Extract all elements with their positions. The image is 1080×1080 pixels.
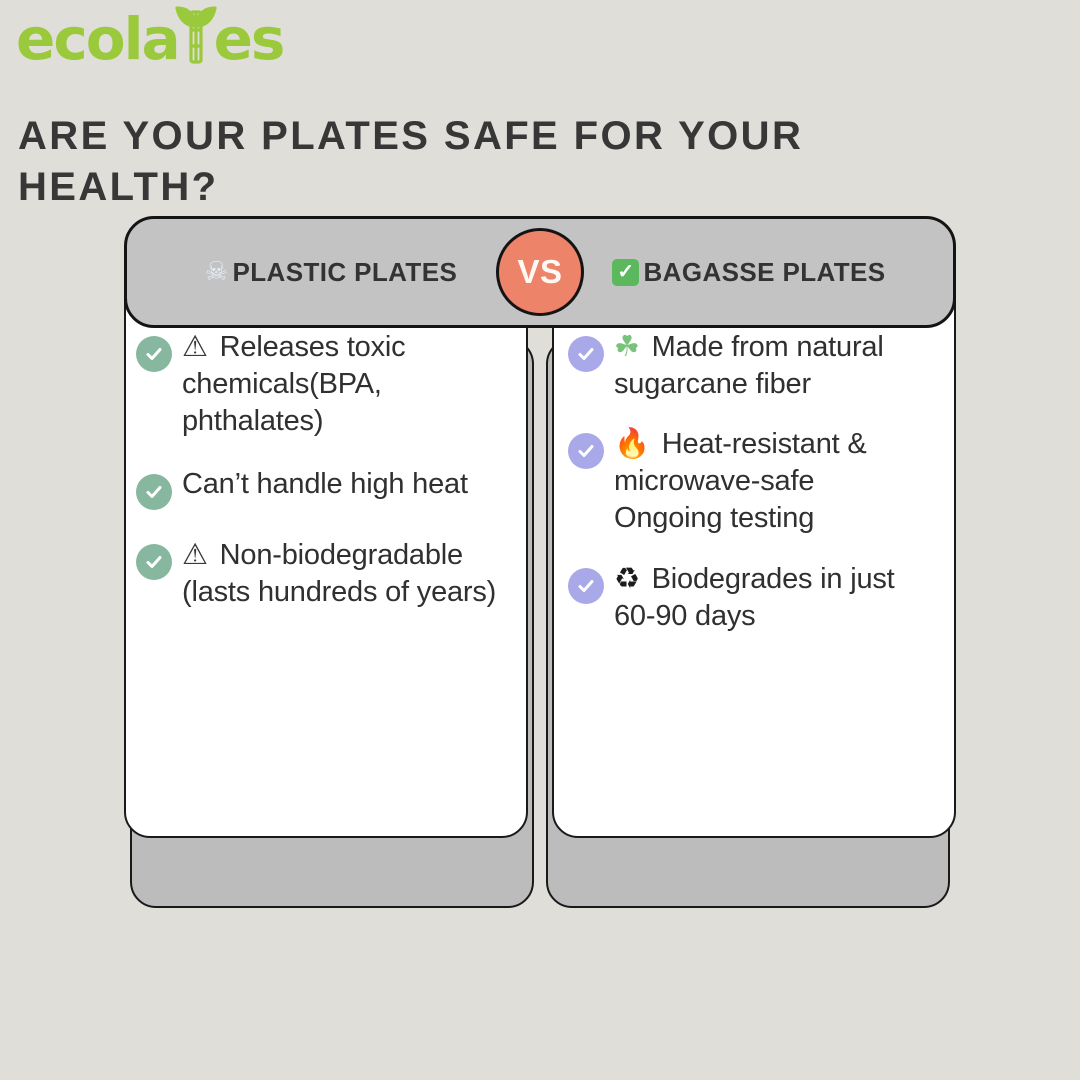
comparison-block: ⚠ Releases toxic chemicals(BPA, phthalat… bbox=[124, 216, 956, 908]
page-title: ARE YOUR PLATES SAFE FOR YOUR HEALTH? bbox=[18, 111, 918, 213]
list-item: ⚠ Non-biodegradable (lasts hundreds of y… bbox=[136, 536, 508, 611]
bagasse-plates-label: BAGASSE PLATES bbox=[643, 257, 885, 288]
list-item-text: ⚠ Non-biodegradable (lasts hundreds of y… bbox=[182, 536, 500, 611]
recycle-icon: ♻ bbox=[614, 561, 640, 595]
skull-crossbones-icon: ☠ bbox=[205, 259, 229, 285]
list-item-text: ♻ Biodegrades in just 60-90 days bbox=[614, 560, 914, 635]
check-circle-icon bbox=[136, 544, 172, 580]
fire-icon: 🔥 bbox=[614, 426, 650, 460]
brand-logo: ecola es bbox=[16, 4, 283, 68]
list-item-text: Can’t handle high heat bbox=[182, 466, 468, 503]
check-circle-icon bbox=[568, 568, 604, 604]
list-item-text: ⚠ Releases toxic chemicals(BPA, phthalat… bbox=[182, 328, 500, 440]
warning-icon: ⚠ bbox=[182, 537, 208, 571]
comparison-header-bar: ☠ PLASTIC PLATES VS ✓ BAGASSE PLATES bbox=[124, 216, 956, 328]
list-item: ♻ Biodegrades in just 60-90 days bbox=[568, 560, 936, 635]
plastic-plates-header: ☠ PLASTIC PLATES bbox=[166, 257, 496, 288]
list-item: 🔥 Heat-resistant & microwave-safe Ongoin… bbox=[568, 425, 936, 537]
brand-name-part2: es bbox=[214, 10, 284, 68]
check-circle-icon bbox=[136, 474, 172, 510]
brand-name-part1: ecola bbox=[16, 10, 179, 68]
plastic-plates-card: ⚠ Releases toxic chemicals(BPA, phthalat… bbox=[124, 268, 528, 838]
seedling-icon: ☘ bbox=[614, 329, 640, 363]
green-check-icon: ✓ bbox=[612, 259, 639, 286]
vs-label: VS bbox=[517, 253, 562, 291]
list-item: ☘ Made from natural sugarcane fiber bbox=[568, 328, 936, 403]
check-circle-icon bbox=[568, 336, 604, 372]
bagasse-plates-card: ☘ Made from natural sugarcane fiber 🔥 He… bbox=[552, 268, 956, 838]
list-item-text: ☘ Made from natural sugarcane fiber bbox=[614, 328, 914, 403]
check-circle-icon bbox=[136, 336, 172, 372]
plastic-plates-list: ⚠ Releases toxic chemicals(BPA, phthalat… bbox=[136, 328, 508, 612]
list-item: Can’t handle high heat bbox=[136, 466, 508, 510]
plastic-plates-label: PLASTIC PLATES bbox=[233, 257, 458, 288]
list-item: ⚠ Releases toxic chemicals(BPA, phthalat… bbox=[136, 328, 508, 440]
bagasse-plates-list: ☘ Made from natural sugarcane fiber 🔥 He… bbox=[568, 328, 936, 635]
list-item-text: 🔥 Heat-resistant & microwave-safe Ongoin… bbox=[614, 425, 914, 537]
bagasse-plates-header: ✓ BAGASSE PLATES bbox=[584, 257, 914, 288]
warning-icon: ⚠ bbox=[182, 329, 208, 363]
check-circle-icon bbox=[568, 433, 604, 469]
sugarcane-stalk-icon bbox=[173, 4, 219, 68]
vs-badge: VS bbox=[496, 228, 584, 316]
